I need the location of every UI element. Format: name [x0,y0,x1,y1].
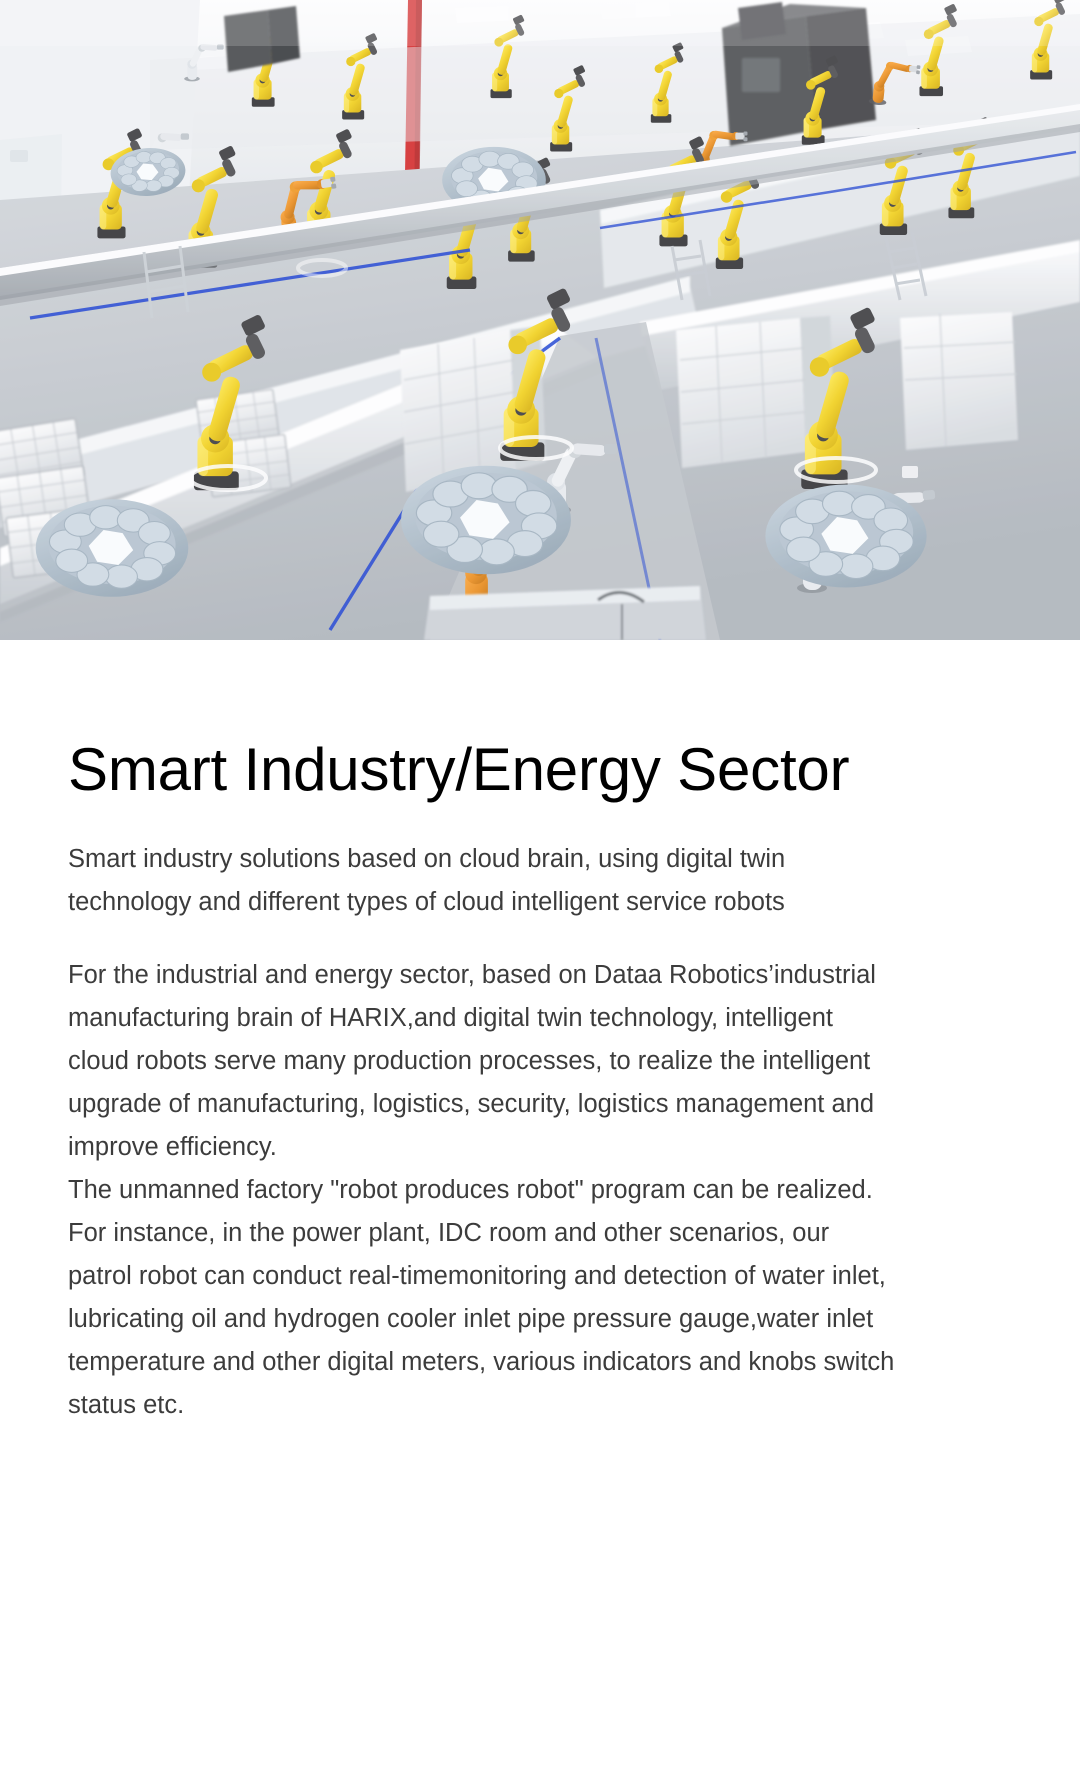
article-content: Smart Industry/Energy Sector Smart indus… [0,640,1080,1577]
body-paragraph-2: The unmanned factory "robot produces rob… [68,1169,898,1212]
lead-paragraph: Smart industry solutions based on cloud … [68,838,888,924]
body-paragraphs: For the industrial and energy sector, ba… [68,954,898,1427]
smart-factory-robots-image [0,0,1080,640]
body-paragraph-1: For the industrial and energy sector, ba… [68,954,898,1169]
page-title: Smart Industry/Energy Sector [0,640,1080,802]
body-paragraph-3: For instance, in the power plant, IDC ro… [68,1212,898,1427]
bottom-spacer [0,1427,1080,1577]
paragraph-group: Smart industry solutions based on cloud … [0,838,1080,1427]
page-root: Smart Industry/Energy Sector Smart indus… [0,0,1080,1785]
